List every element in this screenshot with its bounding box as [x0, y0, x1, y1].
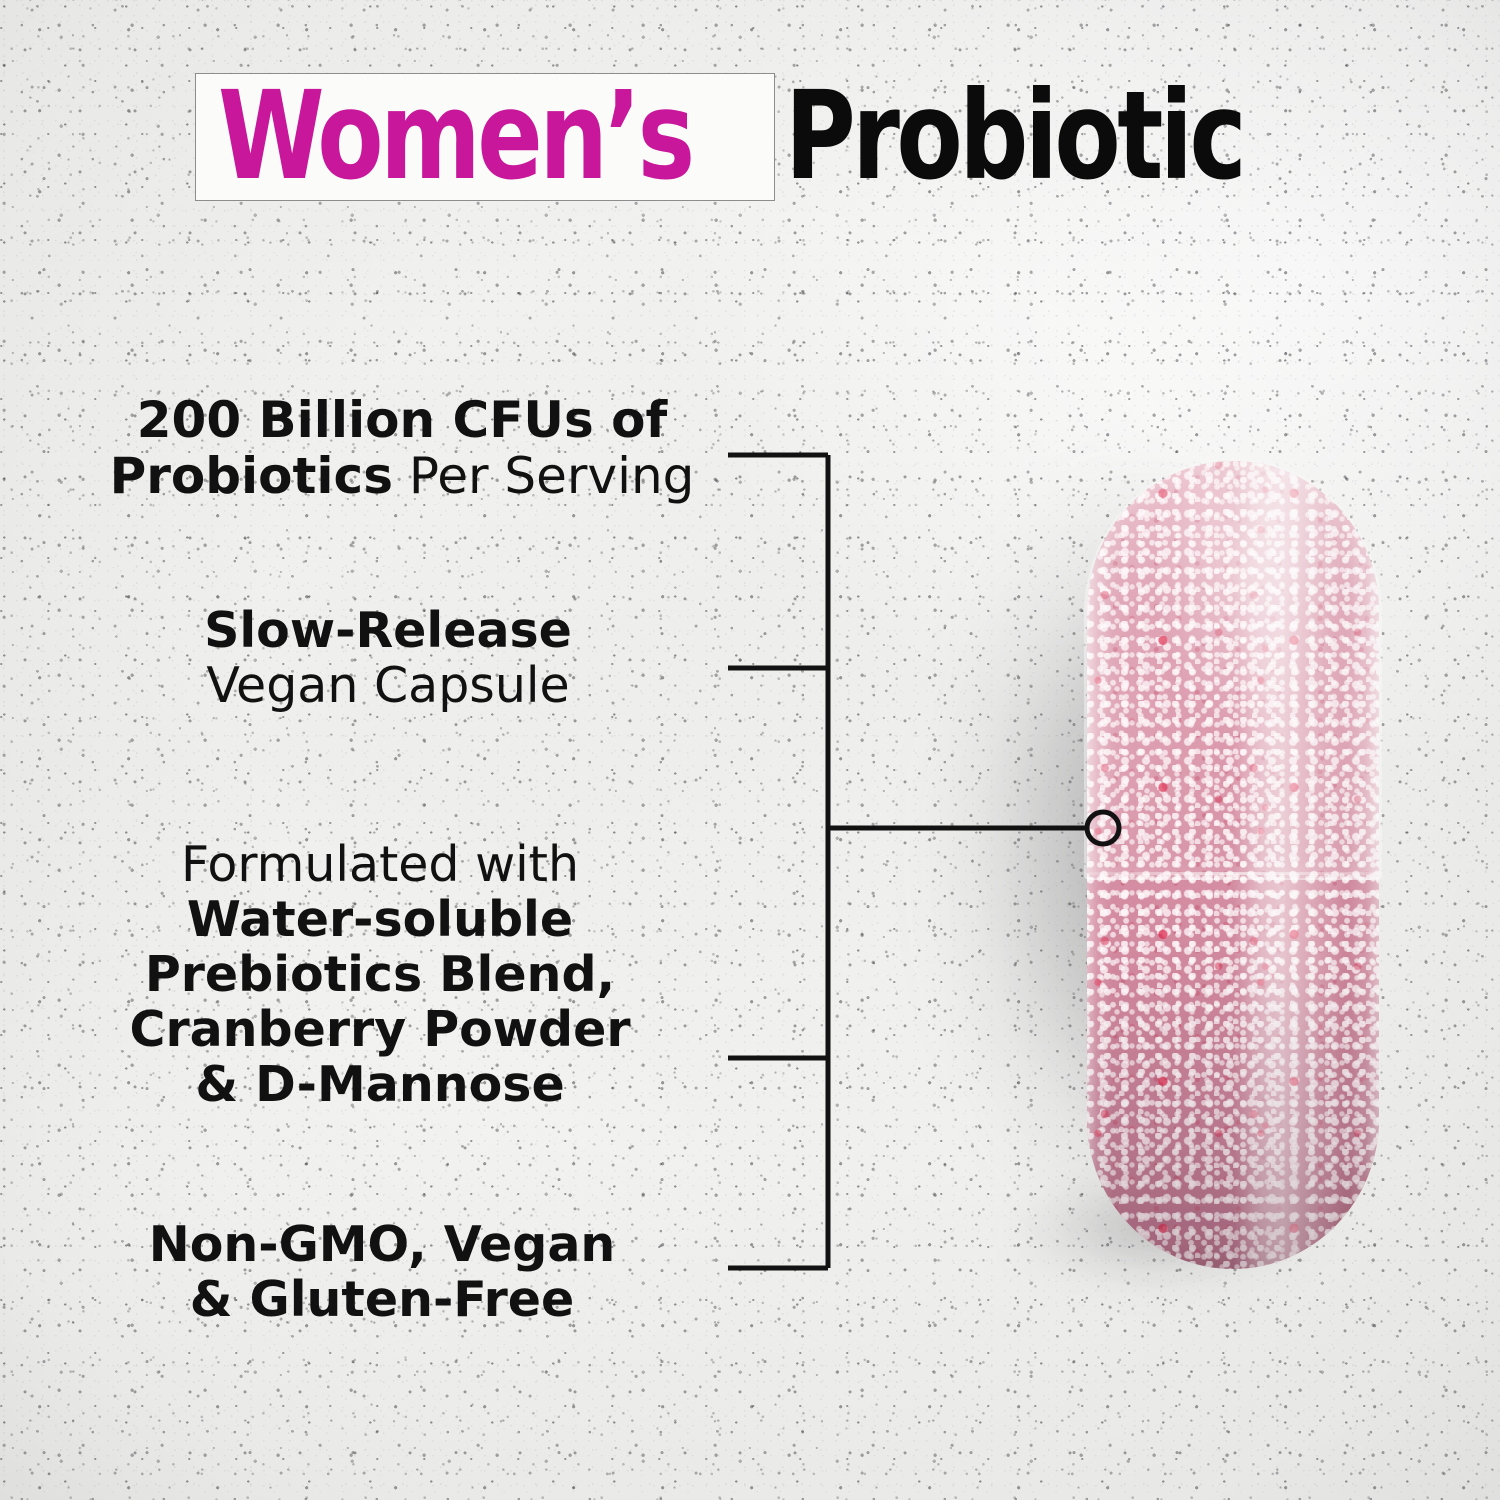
feature-line: Vegan Capsule	[68, 659, 708, 714]
feature-list: 200 Billion CFUs of Probiotics Per Servi…	[0, 0, 760, 1500]
feature-line: & Gluten-Free	[62, 1273, 702, 1328]
feature-text-regular: Vegan Capsule	[206, 657, 569, 714]
feature-text-bold: Water-soluble	[187, 891, 573, 948]
feature-line: Cranberry Powder	[60, 1003, 700, 1058]
product-infographic: Women’s Probiotic 200 Billion CFUs of Pr…	[0, 0, 1500, 1500]
feature-line: Water-soluble	[60, 893, 700, 948]
feature-line: Prebiotics Blend,	[60, 948, 700, 1003]
feature-line: Non-GMO, Vegan	[62, 1218, 702, 1273]
feature-text-bold: Non-GMO, Vegan	[149, 1216, 616, 1273]
feature-certifications: Non-GMO, Vegan & Gluten-Free	[62, 1218, 702, 1328]
feature-line: Formulated with	[60, 838, 700, 893]
feature-slow-release-capsule: Slow-Release Vegan Capsule	[68, 604, 708, 714]
feature-line: Slow-Release	[68, 604, 708, 659]
feature-text-bold: Slow-Release	[204, 602, 572, 659]
feature-line: 200 Billion CFUs of	[82, 392, 722, 448]
feature-formulation: Formulated with Water-soluble Prebiotics…	[60, 838, 700, 1112]
feature-text-bold: Probiotics	[110, 447, 393, 505]
feature-text-bold: Cranberry Powder	[129, 1001, 630, 1058]
feature-cfu-count: 200 Billion CFUs of Probiotics Per Servi…	[82, 392, 722, 504]
feature-text-bold: 200 Billion CFUs of	[137, 391, 668, 449]
feature-text-regular: Per Serving	[393, 447, 694, 505]
feature-text-bold: & Gluten-Free	[190, 1271, 575, 1328]
feature-text-bold: & D-Mannose	[195, 1056, 564, 1113]
feature-text-regular: Formulated with	[181, 836, 579, 893]
feature-text-bold: Prebiotics Blend,	[145, 946, 615, 1003]
feature-line: Probiotics Per Serving	[82, 448, 722, 504]
feature-line: & D-Mannose	[60, 1058, 700, 1113]
